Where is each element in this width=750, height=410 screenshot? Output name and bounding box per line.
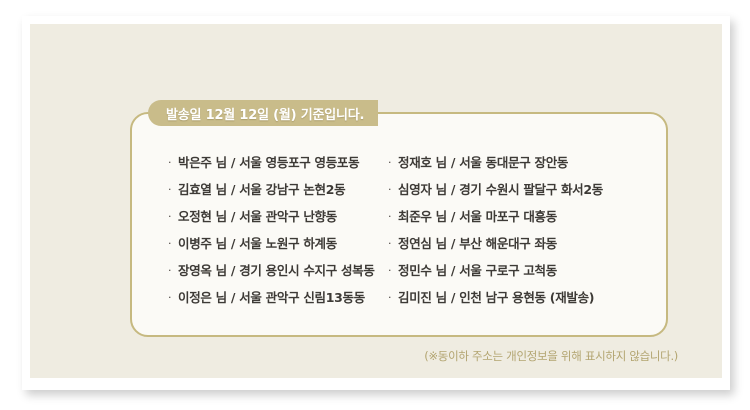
bullet-icon: ·	[168, 238, 178, 249]
list-item: · 김효열 님 / 서울 강남구 논현2동	[168, 179, 378, 206]
list-item: · 심영자 님 / 경기 수원시 팔달구 화서2동	[388, 179, 668, 206]
recipient-text: 심영자 님 / 경기 수원시 팔달구 화서2동	[398, 179, 603, 198]
recipient-column-left: · 박은주 님 / 서울 영등포구 영등포동 · 김효열 님 / 서울 강남구 …	[130, 152, 378, 314]
bullet-icon: ·	[168, 265, 178, 276]
list-item: · 최준우 님 / 서울 마포구 대흥동	[388, 206, 668, 233]
screenshot-root: 발송일 12월 12일 (월) 기준입니다. · 박은주 님 / 서울 영등포구…	[0, 0, 750, 410]
shipping-date-label: 발송일 12월 12일 (월) 기준입니다.	[166, 104, 364, 123]
recipient-text: 김미진 님 / 인천 남구 용현동 (재발송)	[398, 287, 594, 306]
list-item: · 정연심 님 / 부산 해운대구 좌동	[388, 233, 668, 260]
list-item: · 오정현 님 / 서울 관악구 난향동	[168, 206, 378, 233]
bullet-icon: ·	[388, 238, 398, 249]
bullet-icon: ·	[388, 184, 398, 195]
recipient-text: 이정은 님 / 서울 관악구 신림13동동	[178, 287, 365, 306]
bullet-icon: ·	[168, 157, 178, 168]
bullet-icon: ·	[168, 211, 178, 222]
list-item: · 정민수 님 / 서울 구로구 고척동	[388, 260, 668, 287]
list-item: · 장영옥 님 / 경기 용인시 수지구 성복동	[168, 260, 378, 287]
recipient-text: 정민수 님 / 서울 구로구 고척동	[398, 260, 557, 279]
recipient-column-right: · 정재호 님 / 서울 동대문구 장안동 · 심영자 님 / 경기 수원시 팔…	[378, 152, 668, 314]
recipient-text: 박은주 님 / 서울 영등포구 영등포동	[178, 152, 359, 171]
recipient-text: 이병주 님 / 서울 노원구 하계동	[178, 233, 337, 252]
recipient-text: 김효열 님 / 서울 강남구 논현2동	[178, 179, 345, 198]
bullet-icon: ·	[388, 265, 398, 276]
cream-panel: 발송일 12월 12일 (월) 기준입니다. · 박은주 님 / 서울 영등포구…	[30, 24, 722, 378]
shipping-date-banner: 발송일 12월 12일 (월) 기준입니다.	[148, 100, 378, 126]
bullet-icon: ·	[388, 157, 398, 168]
recipient-text: 정재호 님 / 서울 동대문구 장안동	[398, 152, 568, 171]
list-item: · 정재호 님 / 서울 동대문구 장안동	[388, 152, 668, 179]
list-item: · 박은주 님 / 서울 영등포구 영등포동	[168, 152, 378, 179]
bullet-icon: ·	[168, 184, 178, 195]
recipient-columns: · 박은주 님 / 서울 영등포구 영등포동 · 김효열 님 / 서울 강남구 …	[130, 152, 668, 314]
bullet-icon: ·	[388, 292, 398, 303]
bullet-icon: ·	[388, 211, 398, 222]
list-item: · 이정은 님 / 서울 관악구 신림13동동	[168, 287, 378, 314]
list-item: · 이병주 님 / 서울 노원구 하계동	[168, 233, 378, 260]
recipient-text: 최준우 님 / 서울 마포구 대흥동	[398, 206, 557, 225]
privacy-note: (※동이하 주소는 개인정보을 위해 표시하지 않습니다.)	[330, 348, 678, 364]
list-item: · 김미진 님 / 인천 남구 용현동 (재발송)	[388, 287, 668, 314]
recipient-text: 오정현 님 / 서울 관악구 난향동	[178, 206, 337, 225]
recipient-text: 장영옥 님 / 경기 용인시 수지구 성복동	[178, 260, 375, 279]
recipient-text: 정연심 님 / 부산 해운대구 좌동	[398, 233, 557, 252]
bullet-icon: ·	[168, 292, 178, 303]
